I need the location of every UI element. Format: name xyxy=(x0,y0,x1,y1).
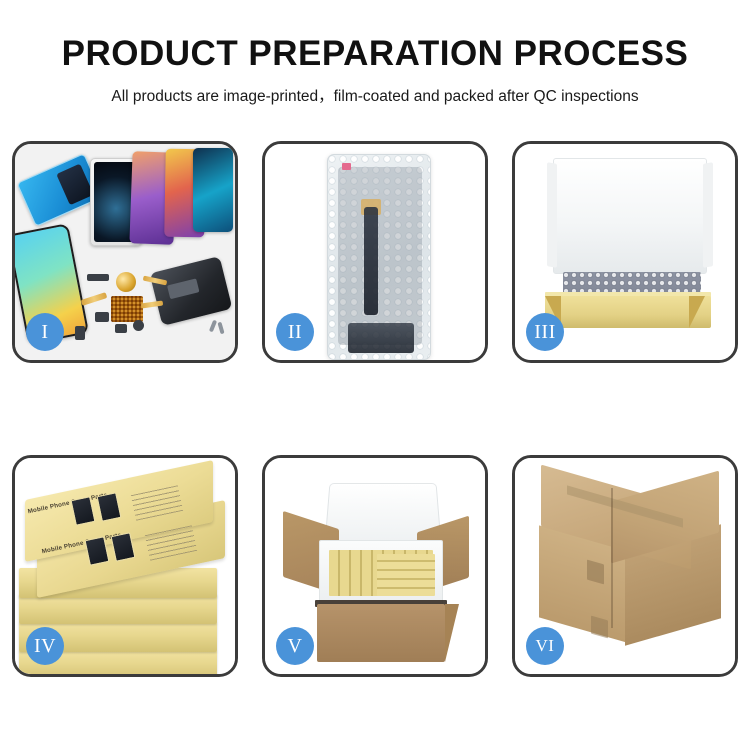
box-corner-right xyxy=(689,296,705,328)
phone-display-teal xyxy=(193,148,233,232)
step-badge-2: II xyxy=(276,313,314,351)
stacked-box-3 xyxy=(19,594,217,624)
carton-vertical-edge xyxy=(611,488,613,628)
step-badge-6: VI xyxy=(526,627,564,665)
step-badge-5: V xyxy=(276,627,314,665)
process-steps-grid: I II xyxy=(12,141,738,677)
chip-part-1 xyxy=(87,274,109,281)
step-badge-1: I xyxy=(26,313,64,351)
pink-qc-label xyxy=(342,163,351,170)
screen-flex-strip xyxy=(364,207,378,315)
step-panel-6: VI xyxy=(512,455,738,677)
header: PRODUCT PREPARATION PROCESS All products… xyxy=(0,0,750,106)
chip-part-4 xyxy=(75,326,85,340)
step-panel-2: II xyxy=(262,141,488,363)
page-title: PRODUCT PREPARATION PROCESS xyxy=(0,36,750,73)
wrapped-screen-body xyxy=(338,167,422,345)
chip-part-2 xyxy=(95,312,109,322)
phone-back-housing xyxy=(150,256,233,326)
step-panel-4: Mobile Phone Spare Parts Mobile Phone Sp… xyxy=(12,455,238,677)
page-subtitle: All products are image-printed，film-coat… xyxy=(0,84,750,106)
screw-part-1 xyxy=(209,320,217,333)
white-foam-lid xyxy=(553,158,707,274)
screen-bottom-assembly xyxy=(348,323,414,353)
step-badge-4: IV xyxy=(26,627,64,665)
yellow-box-front xyxy=(545,296,711,328)
screw-part-2 xyxy=(217,322,224,335)
chip-part-3 xyxy=(115,324,127,333)
product-preparation-infographic: PRODUCT PREPARATION PROCESS All products… xyxy=(0,0,750,750)
step-panel-3: III xyxy=(512,141,738,363)
step-badge-3: III xyxy=(526,313,564,351)
contact-grid-part xyxy=(111,296,143,322)
step-panel-1: I xyxy=(12,141,238,363)
flex-cable-1 xyxy=(81,292,108,306)
bubble-wrap-package xyxy=(327,154,431,360)
carton-handle-cutout-2 xyxy=(591,616,608,639)
step-panel-5: V xyxy=(262,455,488,677)
wireless-charging-coil xyxy=(116,272,136,292)
yellow-boxes-row-2 xyxy=(377,554,435,596)
carton-front-face xyxy=(317,604,445,662)
speaker-part xyxy=(133,320,144,331)
